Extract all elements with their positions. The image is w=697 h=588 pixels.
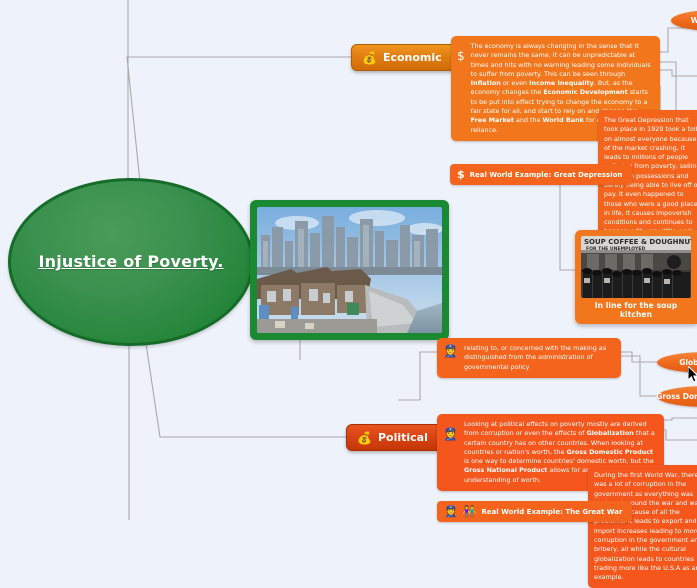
image-node-soup-kitchen[interactable]: SOUP COFFEE & DOUGHNUTS FOR THE UNEMPLOY… bbox=[575, 230, 697, 324]
slum-city-photo bbox=[257, 207, 442, 333]
image-node-slum[interactable] bbox=[250, 200, 449, 340]
topic-node-economic[interactable]: 💰 Economic bbox=[351, 44, 457, 71]
card-great-war-text: During the first World War, there was a … bbox=[594, 471, 697, 582]
topic-label-economic: Economic bbox=[383, 51, 442, 64]
police-officer-icon: 👮 bbox=[443, 420, 458, 441]
dollar-sign-icon: $ bbox=[457, 169, 465, 180]
police-officer-icon: 👮 bbox=[443, 344, 458, 358]
central-node[interactable]: Injustice of Poverty. bbox=[8, 178, 254, 346]
card-great-war-detail[interactable]: During the first World War, there was a … bbox=[588, 465, 697, 588]
pill-label-world-bank: World Bank bbox=[691, 16, 697, 25]
police-officer-icon: 👮 bbox=[444, 506, 458, 517]
example-great-war-label: Real World Example: The Great War bbox=[481, 508, 622, 516]
money-bag-icon: 💰 bbox=[362, 52, 377, 64]
svg-text:FOR THE UNEMPLOYED: FOR THE UNEMPLOYED bbox=[586, 246, 646, 252]
soup-kitchen-photo: SOUP COFFEE & DOUGHNUTS FOR THE UNEMPLOY… bbox=[581, 236, 691, 298]
money-bag-icon: 💰 bbox=[357, 432, 372, 444]
example-great-war[interactable]: 👮 👫 Real World Example: The Great War bbox=[437, 501, 632, 522]
central-node-label: Injustice of Poverty. bbox=[38, 250, 223, 273]
people-icon: 👫 bbox=[463, 506, 477, 517]
topic-node-political[interactable]: 💰 Political bbox=[346, 424, 443, 451]
topic-label-political: Political bbox=[378, 431, 428, 444]
mindmap-canvas[interactable]: Injustice of Poverty. 💰 Economic 💰 Polit… bbox=[0, 0, 697, 520]
card-political-definition[interactable]: 👮 relating to, or concerned with the mak… bbox=[437, 338, 621, 378]
dollar-sign-icon: $ bbox=[457, 42, 465, 63]
example-great-depression[interactable]: $ Real World Example: Great Depression bbox=[450, 164, 632, 185]
svg-text:SOUP COFFEE & DOUGHNUTS: SOUP COFFEE & DOUGHNUTS bbox=[584, 238, 691, 246]
soup-kitchen-caption: In line for the soup kitchen bbox=[581, 298, 691, 319]
pill-label-gdp: Gross Domestic Product bbox=[656, 392, 697, 401]
mouse-cursor-icon bbox=[688, 366, 697, 383]
card-definition-text: relating to, or concerned with the makin… bbox=[464, 344, 613, 372]
example-great-depression-label: Real World Example: Great Depression bbox=[470, 171, 623, 179]
